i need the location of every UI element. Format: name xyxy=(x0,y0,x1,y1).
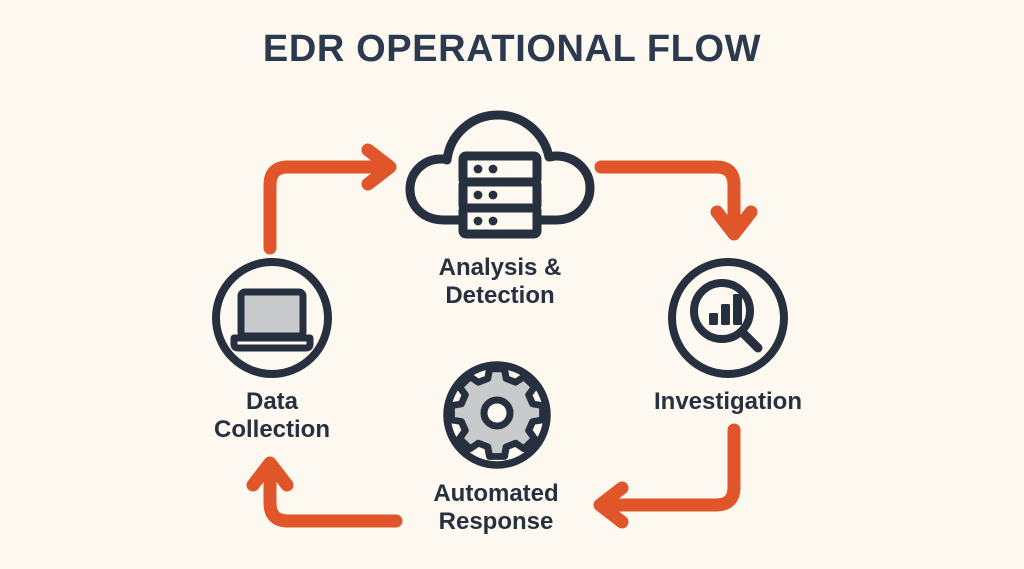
gear-hub xyxy=(484,400,510,426)
arrow-investigation-to-response xyxy=(600,430,734,522)
diagram-canvas: EDR OPERATIONAL FLOW xyxy=(0,0,1024,569)
laptop-icon xyxy=(210,256,334,380)
arrow-data-to-analysis xyxy=(270,150,390,248)
arrow-analysis-to-investigation xyxy=(601,167,751,234)
cloud-server-icon xyxy=(404,104,596,240)
page-title: EDR OPERATIONAL FLOW xyxy=(0,28,1024,71)
node-label-data-collection: Data Collection xyxy=(158,388,386,445)
magnifier-handle xyxy=(742,332,758,348)
bar-chart-bars xyxy=(709,294,742,325)
magnifier-bar-chart-icon xyxy=(666,256,790,380)
gear-icon xyxy=(442,360,552,470)
node-label-analysis-detection: Analysis & Detection xyxy=(366,254,634,311)
node-label-investigation: Investigation xyxy=(604,388,852,416)
node-label-automated-response: Automated Response xyxy=(372,480,620,537)
